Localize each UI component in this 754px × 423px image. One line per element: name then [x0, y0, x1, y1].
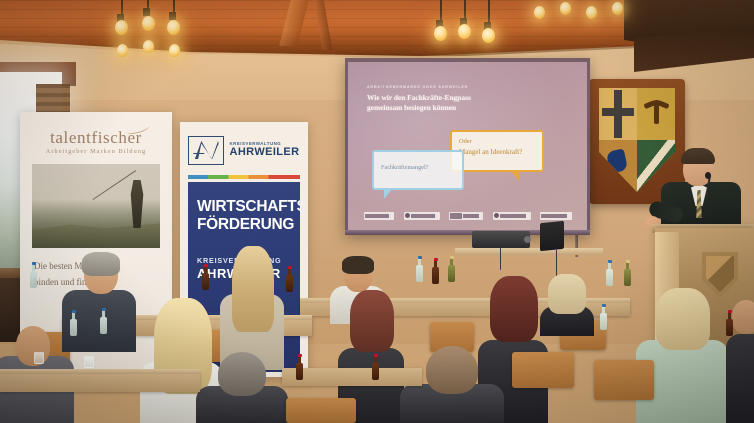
table-edge — [0, 369, 200, 374]
projection-screen: ARBEITGEBERMARKE ODER AHRWEILER Wie wir … — [348, 62, 587, 230]
banner-tf-title: talentfischer — [20, 128, 172, 148]
bubble-right-line2: Mangel an Ideenkraft? — [459, 148, 522, 156]
banner-tf-subtitle: Arbeitgeber Marken Bildung — [20, 148, 172, 155]
light-bulb — [142, 16, 155, 31]
bubble-left-text: Fachkräftemangel? — [381, 164, 428, 171]
light-bulb — [434, 26, 447, 41]
logo-partner-3 — [449, 212, 483, 220]
slide-logo-row — [364, 211, 572, 220]
speech-bubble-left: Fachkräftemangel? — [372, 150, 464, 190]
speech-bubble-right: Oder Mangel an Ideenkraft? — [450, 130, 544, 172]
drinking-glass — [34, 352, 44, 364]
light-bulb — [458, 24, 471, 39]
banner-aw-headline-line1: WIRTSCHAFTS- — [197, 198, 297, 216]
slide-title-line2: gemeinsam besiegen können — [367, 103, 527, 113]
cable — [500, 248, 501, 270]
light-bulb — [115, 20, 128, 35]
light-bulb — [482, 28, 495, 43]
drinking-glass — [84, 356, 94, 368]
light-bulb — [169, 44, 180, 57]
light-bulb — [167, 20, 180, 35]
microphone-head-icon — [705, 172, 711, 179]
slide-title-line1: Wie wir den Fachkräfte-Engpass — [367, 93, 527, 103]
logo-partner-4 — [493, 212, 531, 220]
light-bulb — [534, 6, 545, 19]
aw-monogram-icon — [188, 136, 224, 165]
slide-title: Wie wir den Fachkräfte-Engpass gemeinsam… — [367, 93, 527, 112]
light-bulb — [612, 2, 623, 15]
attendee — [636, 292, 728, 423]
banner-aw-logo-line2: AHRWEILER — [229, 147, 299, 159]
attendee — [196, 352, 288, 423]
slide-kicker: ARBEITGEBERMARKE ODER AHRWEILER — [367, 85, 468, 89]
projector-table — [455, 248, 603, 255]
logo-partner-1 — [364, 212, 394, 220]
banner-aw-logo: KREISVERWALTUNG AHRWEILER — [180, 130, 308, 170]
light-bulb — [117, 44, 128, 57]
projector — [472, 231, 530, 248]
conference-photo: ARBEITGEBERMARKE ODER AHRWEILER Wie wir … — [0, 0, 754, 423]
logo-talentfischer — [540, 212, 572, 220]
banner-aw-headline: WIRTSCHAFTS- FÖRDERUNG — [197, 198, 297, 234]
chair — [286, 398, 356, 423]
attendee — [540, 276, 594, 336]
chair — [594, 360, 654, 400]
conference-table-foreground — [282, 368, 422, 386]
light-bulb — [560, 2, 571, 15]
bubble-right-line1: Oder — [459, 138, 472, 145]
banner-aw-rainbow-bar — [188, 175, 300, 179]
banner-tf-photo — [32, 164, 160, 248]
presenter-laptop — [540, 221, 564, 252]
light-bulb — [586, 6, 597, 19]
banner-aw-headline-line2: FÖRDERUNG — [197, 216, 297, 234]
conference-table-foreground — [0, 372, 200, 392]
projector-lens-icon — [524, 236, 531, 243]
cable — [556, 250, 557, 278]
light-bulb — [143, 40, 154, 53]
chair — [512, 352, 574, 388]
logo-partner-2 — [404, 212, 440, 220]
